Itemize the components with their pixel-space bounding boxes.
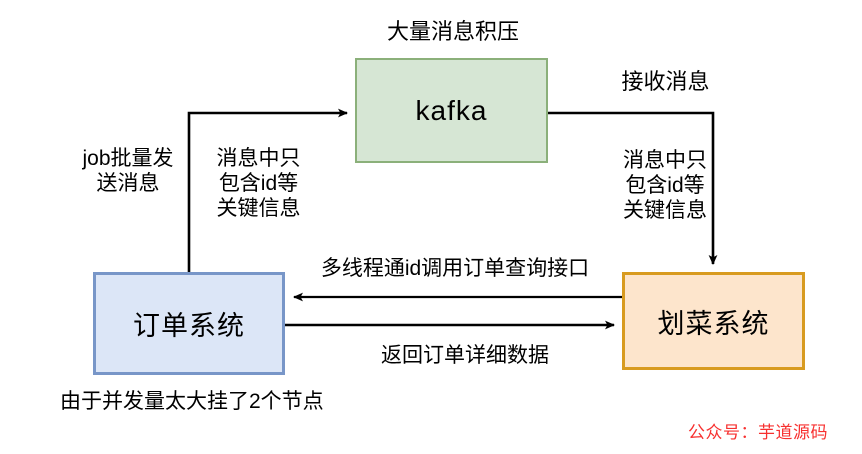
node-kafka[interactable]: kafka [355, 58, 548, 163]
node-dish-system[interactable]: 划菜系统 [622, 272, 805, 370]
label-multithread-query-call: 多线程通id调用订单查询接口 [305, 256, 605, 281]
node-kafka-label: kafka [416, 95, 488, 127]
label-footer-note: 由于并发量太大挂了2个节点 [60, 389, 390, 414]
label-message-backlog: 大量消息积压 [373, 19, 533, 44]
label-return-order-detail: 返回订单详细数据 [340, 343, 590, 368]
node-dish-system-label: 划菜系统 [658, 302, 770, 341]
label-message-contains-id-right: 消息中只 包含id等 关键信息 [595, 148, 735, 223]
label-receive-message: 接收消息 [603, 69, 728, 94]
node-order-system[interactable]: 订单系统 [93, 272, 285, 375]
node-order-system-label: 订单系统 [133, 304, 245, 343]
watermark: 公众号：芋道源码 [688, 418, 828, 443]
label-job-send-message: job批量发 送消息 [68, 146, 188, 196]
diagram-canvas: kafka 订单系统 划菜系统 大量消息积压 job批量发 送消息 消息中只 包… [0, 0, 862, 454]
label-message-contains-id-left: 消息中只 包含id等 关键信息 [196, 146, 321, 221]
